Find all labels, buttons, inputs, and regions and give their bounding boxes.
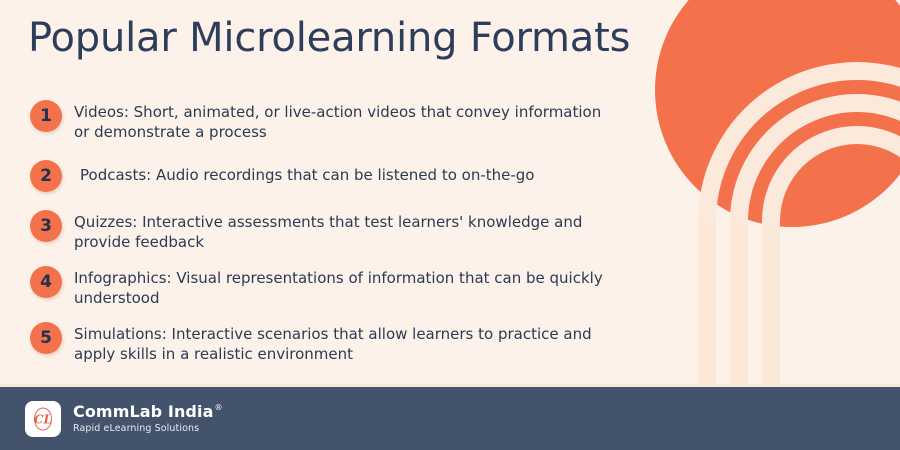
decor-arc-inner xyxy=(762,126,900,387)
list-item: 1 Videos: Short, animated, or live-actio… xyxy=(30,98,610,142)
list-item-text: Videos: Short, animated, or live-action … xyxy=(74,98,604,142)
list-item-badge: 2 xyxy=(30,160,62,192)
decor-circle xyxy=(655,0,900,227)
slide-canvas: Popular Microlearning Formats 1 Videos: … xyxy=(0,0,900,450)
list-item-badge: 4 xyxy=(30,266,62,298)
footer-brand-block: CommLab India® Rapid eLearning Solutions xyxy=(73,404,223,434)
page-title: Popular Microlearning Formats xyxy=(28,14,630,62)
brand-name-label: CommLab India xyxy=(73,402,213,421)
list-item-text: Infographics: Visual representations of … xyxy=(74,264,604,308)
list-item-text: Podcasts: Audio recordings that can be l… xyxy=(80,158,534,185)
decor-arc-outer xyxy=(698,62,900,387)
list-item: 2 Podcasts: Audio recordings that can be… xyxy=(30,158,610,192)
list-item: 4 Infographics: Visual representations o… xyxy=(30,264,610,308)
decorative-artwork xyxy=(630,0,900,387)
list-item: 5 Simulations: Interactive scenarios tha… xyxy=(30,320,610,364)
registered-mark: ® xyxy=(214,403,222,412)
list-item-badge: 1 xyxy=(30,100,62,132)
decor-stems xyxy=(698,227,780,387)
svg-text:CL: CL xyxy=(34,412,52,426)
brand-tagline: Rapid eLearning Solutions xyxy=(73,424,223,434)
formats-list: 1 Videos: Short, animated, or live-actio… xyxy=(30,98,610,376)
list-item-text: Quizzes: Interactive assessments that te… xyxy=(74,208,604,252)
brand-name: CommLab India® xyxy=(73,404,223,420)
decor-arc-middle xyxy=(730,94,900,387)
commlab-logo-icon: CL xyxy=(25,401,61,437)
list-item-badge: 5 xyxy=(30,322,62,354)
list-item-text: Simulations: Interactive scenarios that … xyxy=(74,320,604,364)
list-item: 3 Quizzes: Interactive assessments that … xyxy=(30,208,610,252)
list-item-badge: 3 xyxy=(30,210,62,242)
footer-bar: CL CommLab India® Rapid eLearning Soluti… xyxy=(0,387,900,450)
